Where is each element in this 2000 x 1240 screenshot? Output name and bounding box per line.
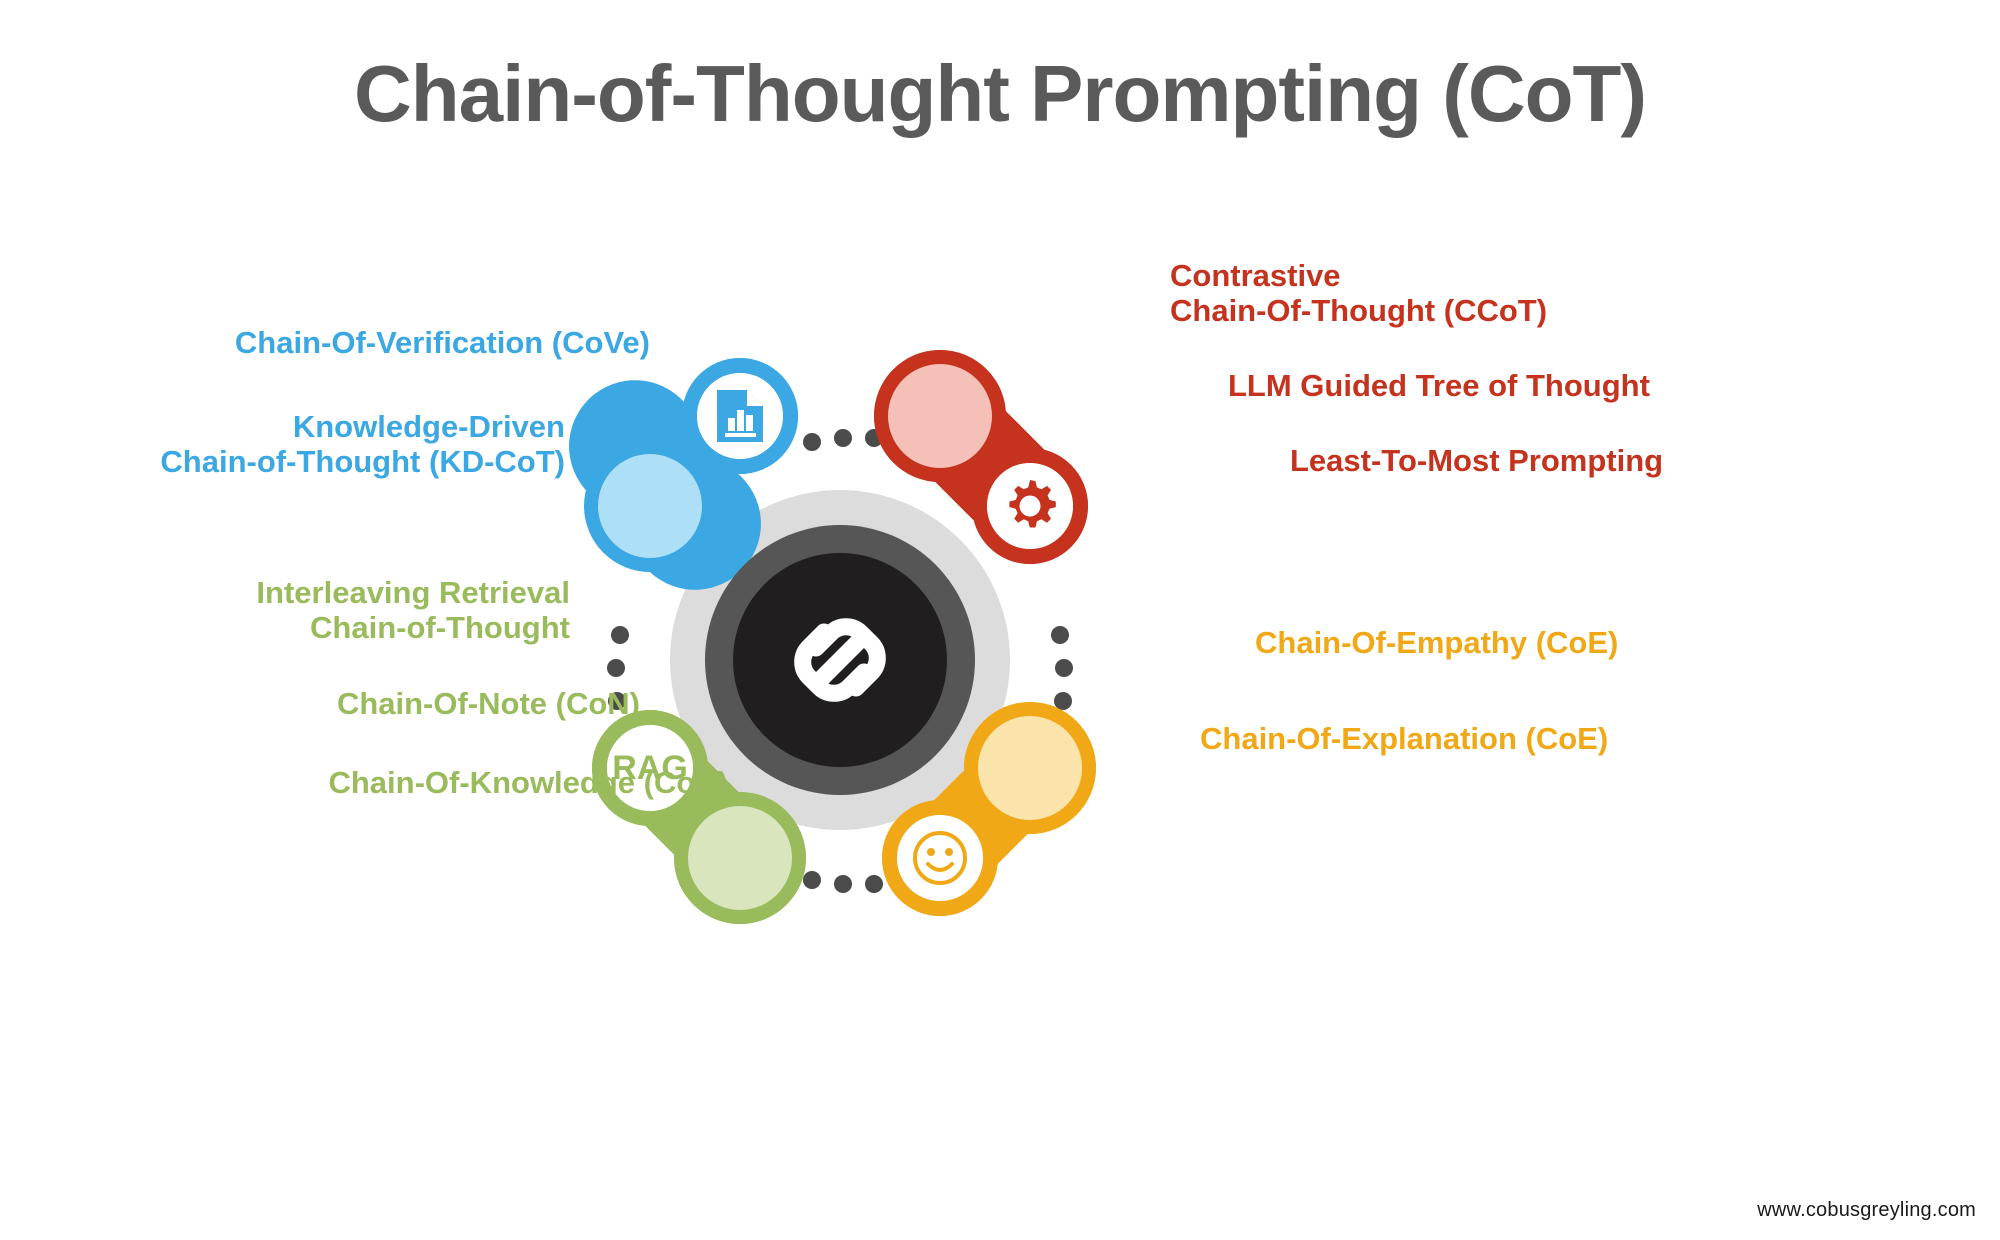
cot-taxonomy-diagram: RAG xyxy=(560,380,1120,940)
label-cok: Chain-Of-Knowledge (CoK) xyxy=(328,765,728,800)
gear-icon xyxy=(987,463,1073,549)
label-cove: Chain-Of-Verification (CoVe) xyxy=(235,325,650,360)
center-hub-disc xyxy=(733,553,947,767)
label-coe-empathy: Chain-Of-Empathy (CoE) xyxy=(1255,625,1618,660)
smiley-face-icon xyxy=(897,815,983,901)
page-title: Chain-of-Thought Prompting (CoT) xyxy=(0,48,2000,140)
footer-website-url: www.cobusgreyling.com xyxy=(1757,1199,1976,1222)
label-coe-explanation: Chain-Of-Explanation (CoE) xyxy=(1200,721,1608,756)
label-kd-cot: Knowledge-Driven Chain-of-Thought (KD-Co… xyxy=(160,409,565,480)
label-con: Chain-Of-Note (CoN) xyxy=(337,686,640,721)
center-hub[interactable] xyxy=(705,525,975,795)
label-ccot: Contrastive Chain-Of-Thought (CCoT) xyxy=(1170,258,1547,329)
label-interleaving-retrieval: Interleaving Retrieval Chain-of-Thought xyxy=(256,575,570,646)
chain-link-icon xyxy=(776,596,904,724)
document-bar-chart-icon xyxy=(697,373,783,459)
label-llm-guided-tot: LLM Guided Tree of Thought xyxy=(1228,368,1650,403)
label-least-to-most: Least-To-Most Prompting xyxy=(1290,443,1663,478)
